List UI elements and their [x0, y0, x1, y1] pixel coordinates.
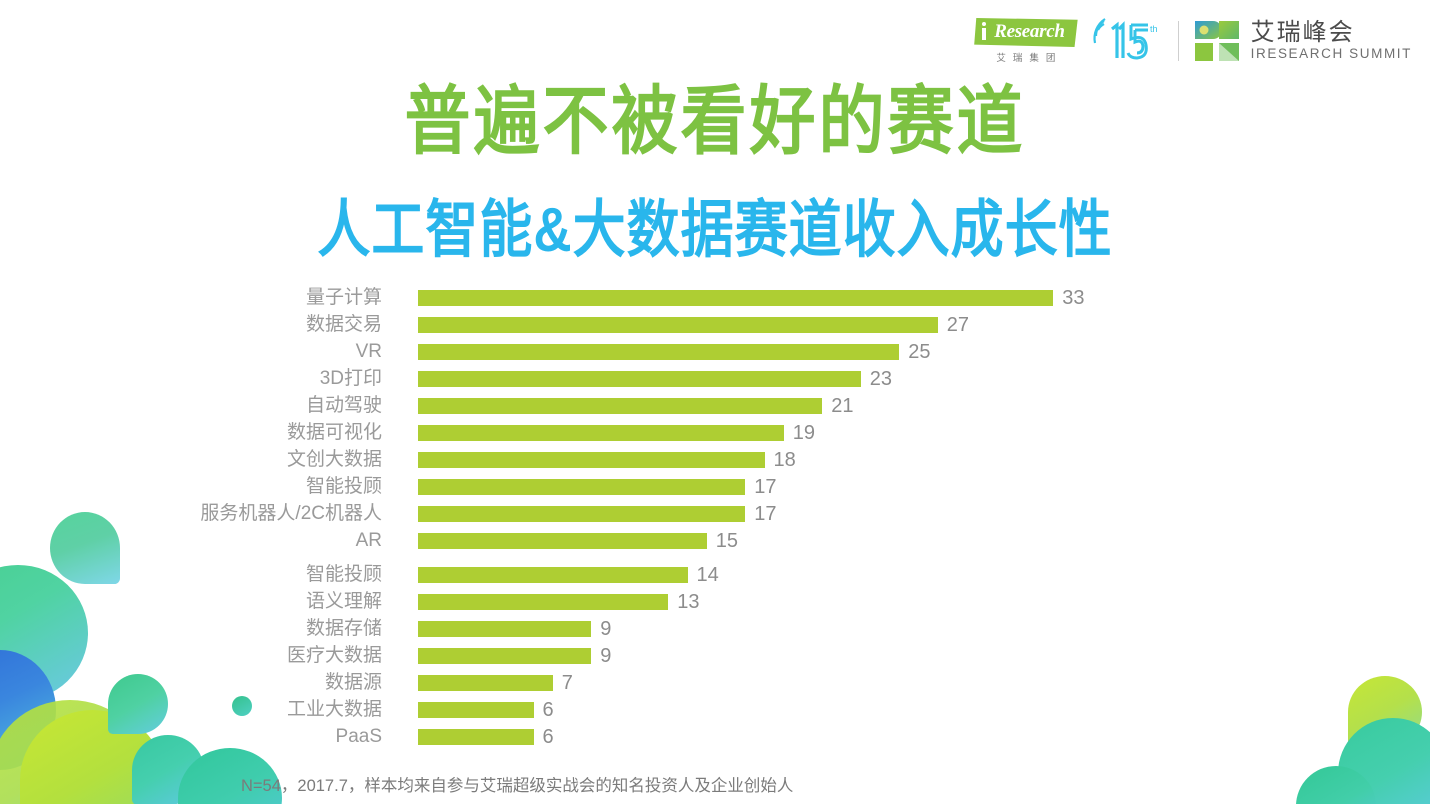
chart-row: 语义理解13 — [0, 588, 1430, 615]
chart-bar — [418, 567, 688, 583]
chart-bar-value: 19 — [793, 423, 815, 443]
chart-bar-value: 7 — [562, 673, 573, 693]
chart-bar-value: 17 — [754, 477, 776, 497]
chart-row-label: PaaS — [0, 727, 400, 746]
iresearch-summit-logo: 艾瑞峰会 IRESEARCH SUMMIT — [1193, 19, 1412, 63]
chart-row-label: 数据存储 — [0, 619, 400, 638]
chart-row-label: 医疗大数据 — [0, 646, 400, 665]
chart-row: 自动驾驶21 — [0, 392, 1430, 419]
chart-bar-group: 9 — [418, 619, 611, 639]
chart-row-label: 数据源 — [0, 673, 400, 692]
chart-bar-value: 18 — [774, 450, 796, 470]
chart-bar-value: 9 — [600, 646, 611, 666]
chart-bar-group: 27 — [418, 315, 969, 335]
chart-bar-value: 33 — [1062, 288, 1084, 308]
chart-bar-group: 18 — [418, 450, 796, 470]
chart-bar-group: 6 — [418, 727, 554, 747]
slide-canvas: Research 艾瑞集团 th — [0, 0, 1430, 804]
chart-bar-value: 6 — [543, 727, 554, 747]
chart-row: 工业大数据6 — [0, 696, 1430, 723]
chart-bar — [418, 702, 534, 718]
logo-divider — [1178, 21, 1179, 61]
chart-row: 文创大数据18 — [0, 446, 1430, 473]
chart-bar — [418, 398, 822, 414]
chart-bar — [418, 371, 861, 387]
chart-bar-value: 6 — [543, 700, 554, 720]
chart-bar-value: 9 — [600, 619, 611, 639]
chart-bar-group: 17 — [418, 504, 777, 524]
chart-bar — [418, 675, 553, 691]
chart-row: 服务机器人/2C机器人17 — [0, 500, 1430, 527]
chart-bar — [418, 290, 1053, 306]
fifteenth-anniversary-logo: th — [1092, 16, 1164, 66]
chart-bar — [418, 452, 765, 468]
summit-cn-label: 艾瑞峰会 — [1251, 21, 1412, 45]
chart-bar-group: 13 — [418, 592, 700, 612]
chart-bar-value: 14 — [697, 565, 719, 585]
chart-bar — [418, 594, 668, 610]
chart-row: 智能投顾17 — [0, 473, 1430, 500]
chart-bar-group: 21 — [418, 396, 854, 416]
bubble-shape — [1296, 766, 1376, 804]
chart-row: 数据源7 — [0, 669, 1430, 696]
chart-bar-value: 13 — [677, 592, 699, 612]
summit-en-label: IRESEARCH SUMMIT — [1251, 47, 1412, 61]
chart-bar-group: 25 — [418, 342, 931, 362]
chart-row: 量子计算33 — [0, 284, 1430, 311]
chart-row-label: 语义理解 — [0, 592, 400, 611]
i-stem-icon — [982, 28, 986, 40]
iresearch-badge: Research — [974, 18, 1077, 47]
chart-bar-value: 23 — [870, 369, 892, 389]
chart-bar — [418, 344, 899, 360]
chart-bar-group: 17 — [418, 477, 777, 497]
chart-bar — [418, 729, 534, 745]
iresearch-cn-label: 艾瑞集团 — [989, 50, 1062, 64]
chart-row-label: 工业大数据 — [0, 700, 400, 719]
chart-row-label: 文创大数据 — [0, 450, 400, 469]
chart-bar-group: 23 — [418, 369, 892, 389]
chart-bar-value: 25 — [908, 342, 930, 362]
chart-footnote: N=54，2017.7，样本均来自参与艾瑞超级实战会的知名投资人及企业创始人 — [241, 772, 793, 796]
chart-row-label: 服务机器人/2C机器人 — [0, 504, 400, 523]
chart-row-label: 3D打印 — [0, 369, 400, 388]
chart-bar-group: 19 — [418, 423, 815, 443]
summit-text-block: 艾瑞峰会 IRESEARCH SUMMIT — [1251, 21, 1412, 61]
chart-row-label: AR — [0, 531, 400, 550]
chart-row-label: 数据交易 — [0, 315, 400, 334]
chart-row-label: VR — [0, 342, 400, 361]
chart-bar-group: 14 — [418, 565, 719, 585]
chart-row-label: 自动驾驶 — [0, 396, 400, 415]
page-subtitle: 人工智能&大数据赛道收入成长性 — [0, 198, 1430, 264]
chart-bar-group: 7 — [418, 673, 573, 693]
i-dot-icon — [982, 22, 986, 26]
logo-strip: Research 艾瑞集团 th — [974, 16, 1412, 66]
chart-row-label: 智能投顾 — [0, 477, 400, 496]
chart-row: PaaS6 — [0, 723, 1430, 750]
bar-chart: 量子计算33数据交易27VR253D打印23自动驾驶21数据可视化19文创大数据… — [0, 284, 1430, 750]
iresearch-logo: Research 艾瑞集团 — [974, 18, 1077, 64]
chart-row-label: 量子计算 — [0, 288, 400, 307]
iresearch-wordmark: Research — [994, 21, 1064, 42]
chart-bar — [418, 425, 784, 441]
summit-mark-icon — [1193, 19, 1241, 63]
chart-row-label: 智能投顾 — [0, 565, 400, 584]
chart-bar-group: 6 — [418, 700, 554, 720]
chart-bar-value: 15 — [716, 531, 738, 551]
chart-row: AR15 — [0, 527, 1430, 554]
chart-bar — [418, 479, 745, 495]
chart-row: 智能投顾14 — [0, 561, 1430, 588]
chart-row: 3D打印23 — [0, 365, 1430, 392]
chart-bar-value: 17 — [754, 504, 776, 524]
chart-bar — [418, 621, 591, 637]
chart-bar-value: 21 — [831, 396, 853, 416]
chart-bar-group: 15 — [418, 531, 738, 551]
chart-bar — [418, 648, 591, 664]
anniversary-suffix: th — [1150, 24, 1158, 34]
chart-row-label: 数据可视化 — [0, 423, 400, 442]
chart-bar-value: 27 — [947, 315, 969, 335]
chart-bar — [418, 533, 707, 549]
chart-bar-group: 33 — [418, 288, 1085, 308]
page-title: 普遍不被看好的赛道 — [0, 82, 1430, 161]
chart-row: 数据可视化19 — [0, 419, 1430, 446]
chart-bar — [418, 317, 938, 333]
chart-bar — [418, 506, 745, 522]
chart-row: 医疗大数据9 — [0, 642, 1430, 669]
chart-bar-group: 9 — [418, 646, 611, 666]
chart-row: VR25 — [0, 338, 1430, 365]
chart-row: 数据交易27 — [0, 311, 1430, 338]
anniversary-icon: th — [1092, 16, 1164, 66]
chart-row: 数据存储9 — [0, 615, 1430, 642]
